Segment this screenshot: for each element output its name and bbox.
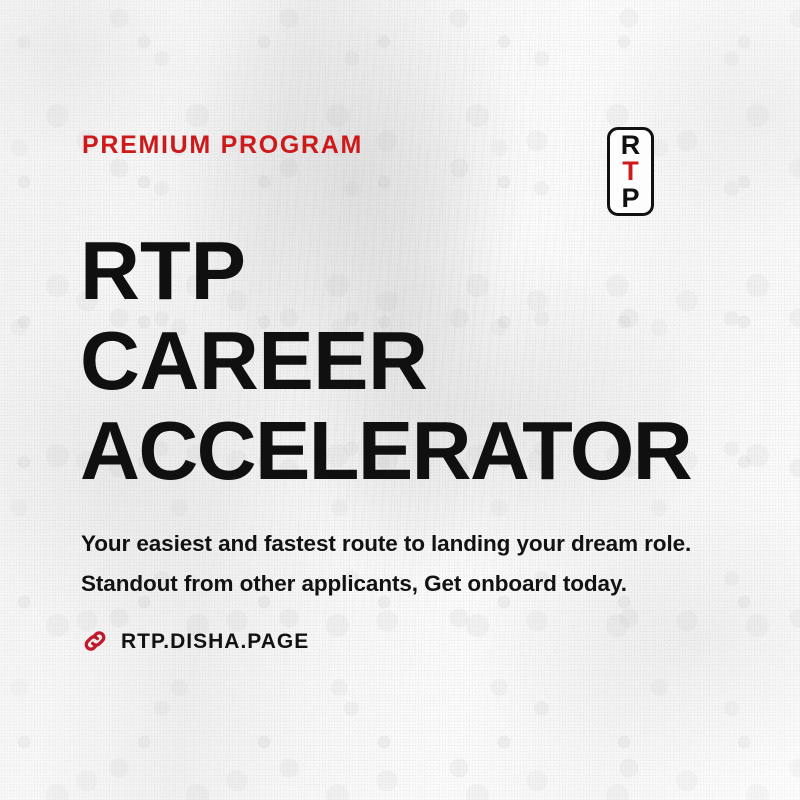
subtitle-line-2: Standout from other applicants, Get onbo…: [81, 564, 771, 604]
headline-line-1: RTP: [80, 226, 780, 316]
headline-line-3: ACCELERATOR: [80, 406, 780, 496]
poster-canvas: PREMIUM PROGRAM R T P RTP CAREER ACCELER…: [0, 0, 800, 800]
website-link-label: RTP.DISHA.PAGE: [121, 631, 309, 652]
subtitle: Your easiest and fastest route to landin…: [81, 524, 771, 604]
logo-letter-r: R: [621, 132, 641, 158]
chain-link-icon: [80, 626, 110, 656]
page-title: RTP CAREER ACCELERATOR: [80, 226, 780, 496]
poster-content: PREMIUM PROGRAM R T P RTP CAREER ACCELER…: [0, 0, 800, 800]
rtp-logo: R T P: [607, 127, 654, 216]
logo-letter-p: P: [621, 185, 639, 211]
eyebrow-label: PREMIUM PROGRAM: [82, 133, 363, 158]
headline-line-2: CAREER: [80, 316, 780, 406]
logo-letter-t: T: [622, 158, 639, 184]
website-link[interactable]: RTP.DISHA.PAGE: [80, 626, 309, 656]
subtitle-line-1: Your easiest and fastest route to landin…: [81, 524, 771, 564]
